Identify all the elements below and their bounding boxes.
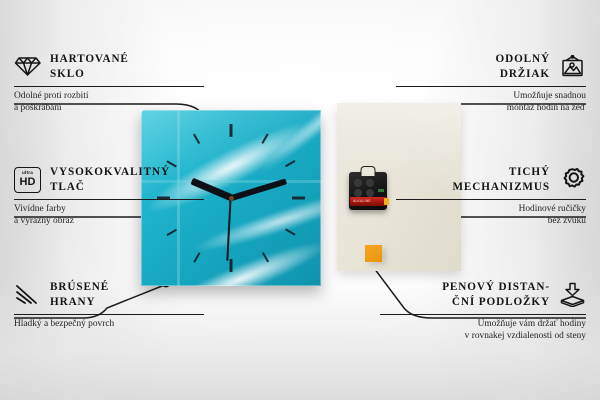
- beveled-edges-icon: [14, 281, 41, 308]
- feature-title-line: BRÚSENÉ: [50, 280, 109, 295]
- feature-desc-line: bez zvuku: [396, 216, 586, 228]
- feature-title-line: MECHANIZMUS: [452, 180, 550, 195]
- feature-title-line: PENOVÝ DISTAN-: [442, 280, 550, 295]
- feature-divider: [396, 86, 586, 87]
- infographic-stage: ALKALINE HARTOVANÉ SKLO: [0, 0, 600, 400]
- feature-desc-line: montáž hodin na zeď: [396, 103, 586, 115]
- battery-plus-terminal: [384, 198, 389, 205]
- feature-foam-spacers[interactable]: PENOVÝ DISTAN- ČNÍ PODLOŽKY Umožňuje vám…: [380, 280, 586, 342]
- feature-desc-line: a poškrábání: [14, 103, 204, 115]
- mechanism-knob: [354, 189, 362, 197]
- feature-desc-line: a výrazný obraz: [14, 216, 204, 228]
- feature-divider: [14, 314, 204, 315]
- feature-divider: [396, 199, 586, 200]
- feature-durable-holder[interactable]: ODOLNÝ DRŽIAK Umožňuje snadnou montáž ho…: [396, 52, 586, 114]
- foam-pad-icon: [559, 281, 586, 308]
- feature-title-line: SKLO: [50, 67, 129, 82]
- feature-divider: [380, 314, 586, 315]
- feature-desc-line: Hodinové ručičky: [396, 204, 586, 216]
- feature-title-line: ODOLNÝ: [495, 52, 550, 67]
- feature-desc-line: Hladký a bezpečný povrch: [14, 319, 204, 331]
- mechanism-knob: [354, 179, 362, 187]
- feature-title-line: TLAČ: [50, 180, 170, 195]
- feature-desc-line: v rovnakej vzdialenosti od steny: [380, 331, 586, 343]
- feature-high-quality-print[interactable]: ultra HD VYSOKOKVALITNÝ TLAČ Vivídne far…: [14, 165, 204, 227]
- feature-desc-line: Umožňuje snadnou: [396, 91, 586, 103]
- feature-title-line: HARTOVANÉ: [50, 52, 129, 67]
- battery: ALKALINE: [350, 197, 386, 206]
- mechanism-hanger-tab: [361, 166, 376, 176]
- feature-tempered-glass[interactable]: HARTOVANÉ SKLO Odolné proti rozbití a po…: [14, 52, 204, 114]
- feature-beveled-edges[interactable]: BRÚSENÉ HRANY Hladký a bezpečný povrch: [14, 280, 204, 331]
- feature-title-line: TICHÝ: [509, 165, 550, 180]
- gear-icon: [559, 166, 586, 193]
- foam-spacer-pad: [365, 245, 382, 262]
- feature-title-line: DRŽIAK: [500, 67, 550, 82]
- picture-hanger-icon: [559, 53, 586, 80]
- feature-silent-mechanism[interactable]: TICHÝ MECHANIZMUS Hodinové ručičky bez z…: [396, 165, 586, 227]
- mechanism-green-chip: [378, 189, 384, 192]
- mechanism-knob: [366, 189, 374, 197]
- diamond-icon: [14, 53, 41, 80]
- battery-label: ALKALINE: [353, 199, 371, 203]
- feature-title-line: HRANY: [50, 295, 109, 310]
- feature-desc-line: Vivídne farby: [14, 204, 204, 216]
- mechanism-knob: [366, 179, 374, 187]
- feature-desc-line: Odolné proti rozbití: [14, 91, 204, 103]
- feature-desc-line: Umožňuje vám držať hodiny: [380, 319, 586, 331]
- feature-divider: [14, 86, 204, 87]
- hd-badge-text: HD: [20, 177, 36, 188]
- feature-title-line: VYSOKOKVALITNÝ: [50, 165, 170, 180]
- feature-title-line: ČNÍ PODLOŽKY: [452, 295, 550, 310]
- ultra-hd-badge-icon: ultra HD: [14, 166, 41, 193]
- feature-divider: [14, 199, 204, 200]
